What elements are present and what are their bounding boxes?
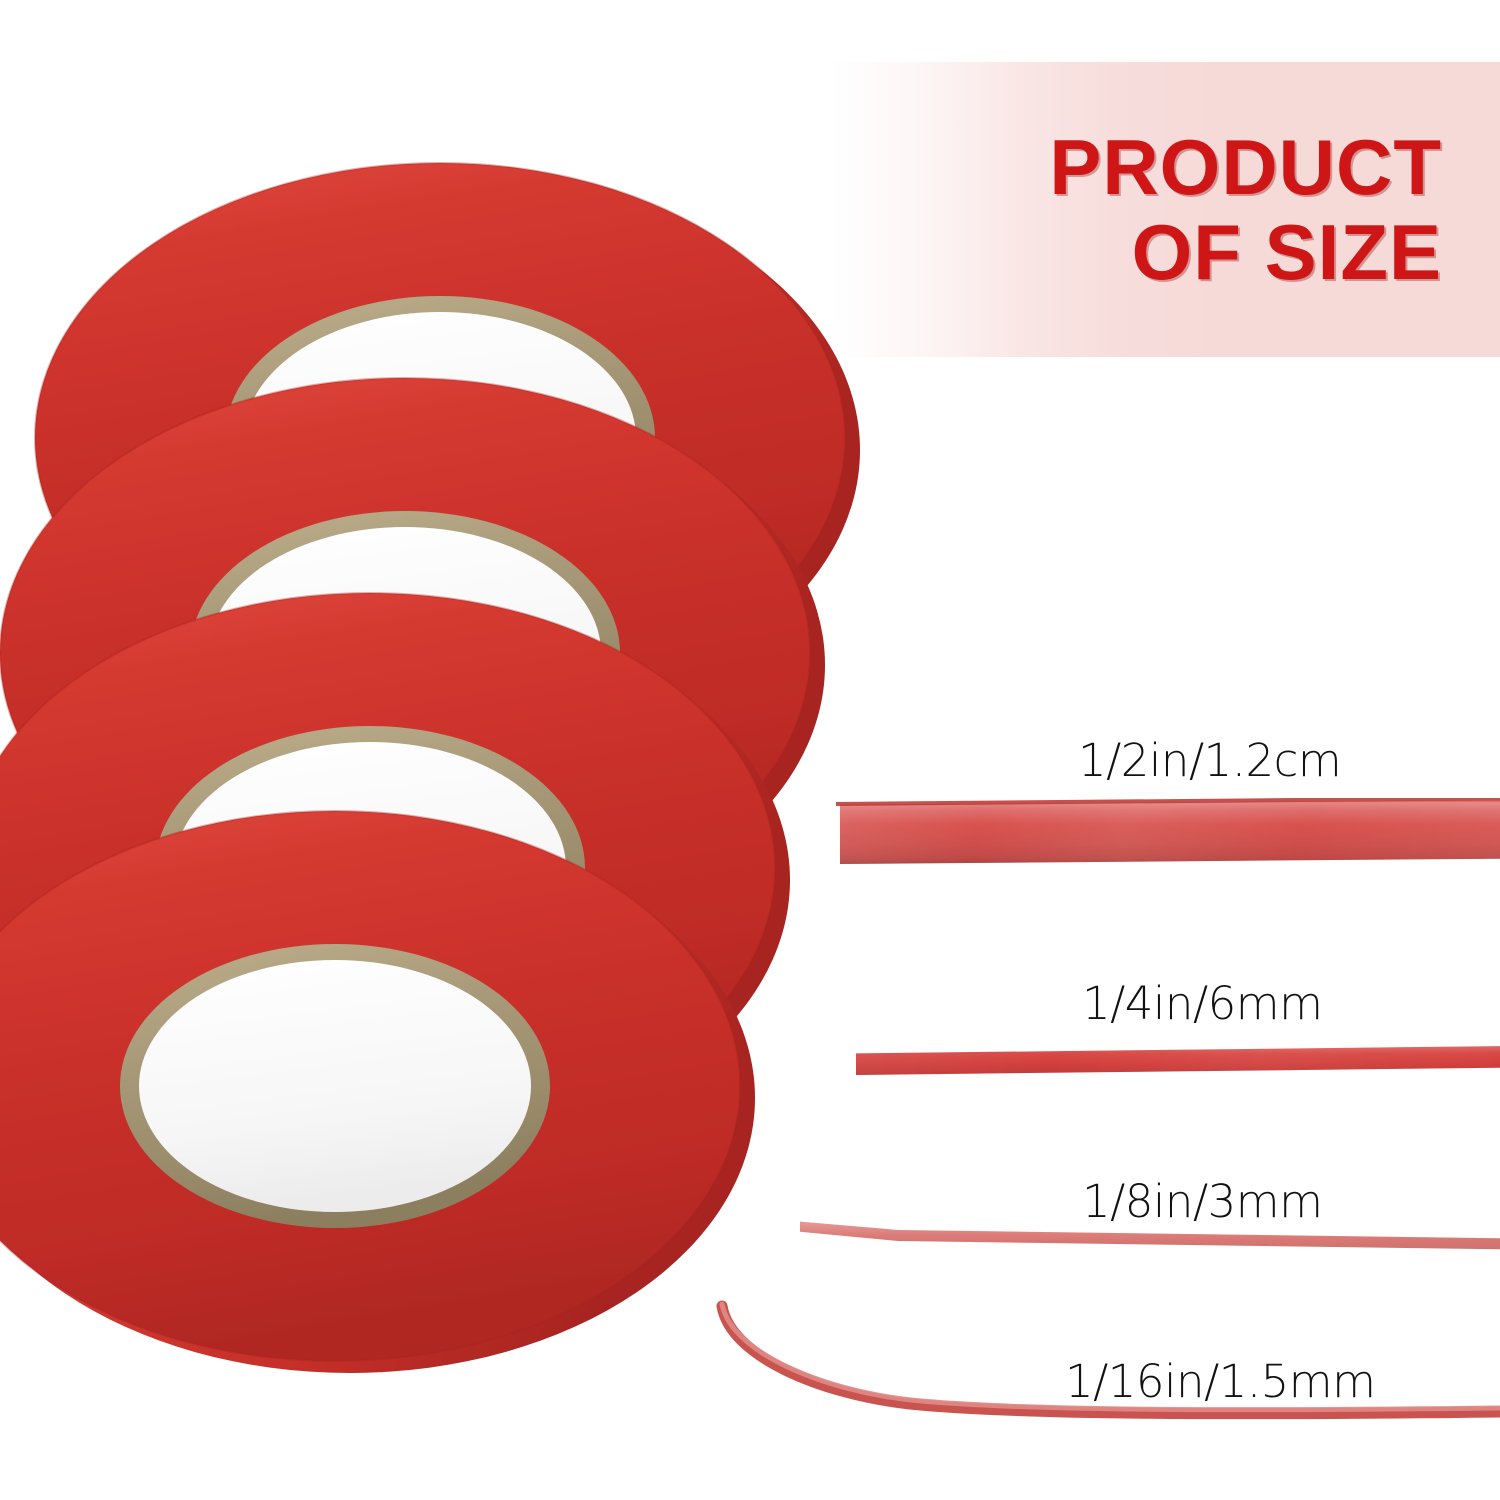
banner-title-line-1: PRODUCT bbox=[1049, 125, 1442, 209]
size-label-eighth-inch: 1/8in/3mm bbox=[1082, 1175, 1322, 1228]
tape-roll-stack bbox=[0, 120, 900, 1420]
tape-strip-half-inch-face bbox=[836, 798, 1500, 864]
tape-strip-half-inch bbox=[836, 798, 1500, 864]
banner-title-line-2: OF SIZE bbox=[1132, 210, 1442, 294]
tape-strip-quarter-inch-face bbox=[856, 1044, 1500, 1080]
product-size-banner: PRODUCT OF SIZE bbox=[830, 62, 1500, 357]
tape-strip-quarter-inch bbox=[856, 1044, 1500, 1080]
product-infographic: 1/2in/1.2cm 1/4in/6mm 1/8in/3mm 1/16in/1… bbox=[0, 0, 1500, 1500]
size-label-quarter-inch: 1/4in/6mm bbox=[1082, 977, 1322, 1030]
size-label-half-inch: 1/2in/1.2cm bbox=[1078, 734, 1341, 787]
size-label-sixteenth-inch: 1/16in/1.5mm bbox=[1065, 1355, 1375, 1408]
